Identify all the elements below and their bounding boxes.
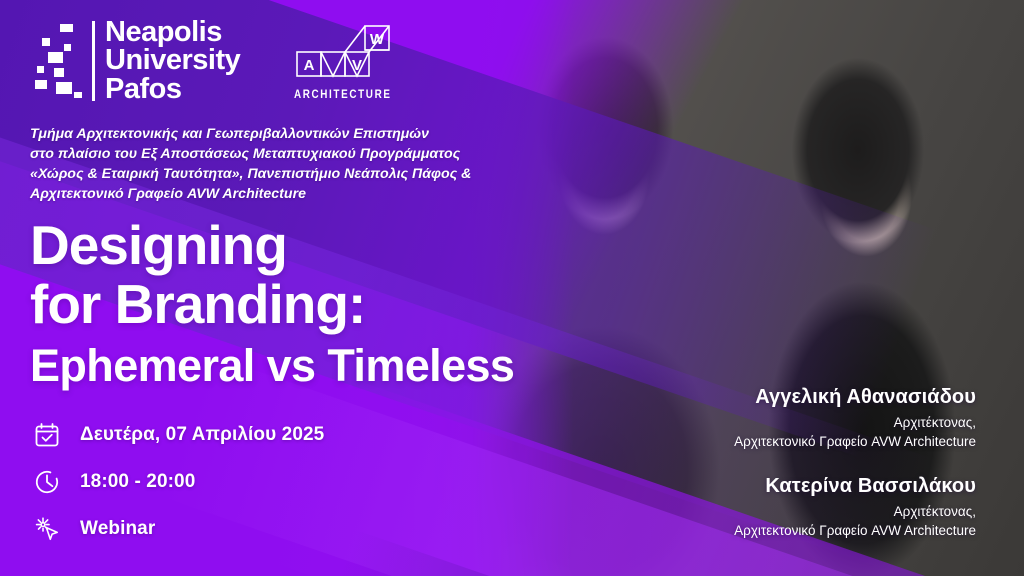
neapolis-pixel-mark-icon bbox=[34, 22, 82, 100]
speaker-name: Αγγελική Αθανασιάδου bbox=[734, 386, 976, 409]
neapolis-wordmark: Neapolis University Pafos bbox=[105, 18, 240, 103]
event-format-text: Webinar bbox=[80, 518, 155, 540]
speaker-item: Κατερίνα Βασσιλάκου Αρχιτέκτονας, Αρχιτε… bbox=[734, 475, 976, 540]
speaker-role-line-1: Αρχιτέκτονας, bbox=[734, 414, 976, 433]
title-line-2: for Branding: bbox=[30, 275, 514, 334]
calendar-check-icon bbox=[32, 420, 62, 450]
event-date-text: Δευτέρα, 07 Απριλίου 2025 bbox=[80, 424, 324, 446]
logo-row: Neapolis University Pafos A V bbox=[34, 18, 400, 103]
svg-text:A: A bbox=[304, 57, 315, 74]
title-line-3: Ephemeral vs Timeless bbox=[30, 334, 514, 398]
logo-line-3: Pafos bbox=[105, 75, 240, 103]
avw-monogram-icon: A V W bbox=[296, 20, 390, 82]
event-time-text: 18:00 - 20:00 bbox=[80, 471, 195, 493]
subtitle-line-3: «Χώρος & Εταιρική Ταυτότητα», Πανεπιστήμ… bbox=[30, 164, 471, 184]
speaker-role: Αρχιτέκτονας, Αρχιτεκτονικό Γραφείο AVW … bbox=[734, 414, 976, 451]
clock-icon bbox=[32, 467, 62, 497]
event-time-row: 18:00 - 20:00 bbox=[32, 467, 324, 497]
speaker-name: Κατερίνα Βασσιλάκου bbox=[734, 475, 976, 498]
speaker-item: Αγγελική Αθανασιάδου Αρχιτέκτονας, Αρχιτ… bbox=[734, 386, 976, 451]
title-line-1: Designing bbox=[30, 216, 514, 275]
cursor-click-icon bbox=[32, 514, 62, 544]
subtitle-line-2: στο πλαίσιο του Εξ Αποστάσεως Μεταπτυχια… bbox=[30, 144, 471, 164]
speaker-role-line-1: Αρχιτέκτονας, bbox=[734, 503, 976, 522]
avw-wordmark: ARCHITECTURE bbox=[294, 89, 392, 101]
subtitle-line-4: Αρχιτεκτονικό Γραφείο AVW Architecture bbox=[30, 184, 471, 204]
subtitle-line-1: Τμήμα Αρχιτεκτονικής και Γεωπεριβαλλοντι… bbox=[30, 124, 471, 144]
speakers-list: Αγγελική Αθανασιάδου Αρχιτέκτονας, Αρχιτ… bbox=[734, 386, 976, 541]
speaker-role-line-2: Αρχιτεκτονικό Γραφείο AVW Architecture bbox=[734, 433, 976, 452]
page-title: Designing for Branding: Ephemeral vs Tim… bbox=[30, 216, 514, 398]
svg-text:W: W bbox=[370, 31, 385, 48]
speaker-role-line-2: Αρχιτεκτονικό Γραφείο AVW Architecture bbox=[734, 522, 976, 541]
event-date-row: Δευτέρα, 07 Απριλίου 2025 bbox=[32, 420, 324, 450]
svg-text:V: V bbox=[352, 57, 362, 74]
event-info-list: Δευτέρα, 07 Απριλίου 2025 18:00 - 20:00 bbox=[32, 420, 324, 544]
logo-divider-rule bbox=[92, 21, 95, 101]
speaker-role: Αρχιτέκτονας, Αρχιτεκτονικό Γραφείο AVW … bbox=[734, 503, 976, 540]
event-format-row: Webinar bbox=[32, 514, 324, 544]
event-poster: Neapolis University Pafos A V bbox=[0, 0, 1024, 576]
neapolis-university-logo: Neapolis University Pafos bbox=[34, 18, 240, 103]
avw-architecture-logo: A V W ARCHITECTURE bbox=[286, 18, 400, 101]
logo-line-1: Neapolis bbox=[105, 18, 240, 46]
program-subtitle: Τμήμα Αρχιτεκτονικής και Γεωπεριβαλλοντι… bbox=[30, 124, 471, 205]
logo-line-2: University bbox=[105, 46, 240, 74]
